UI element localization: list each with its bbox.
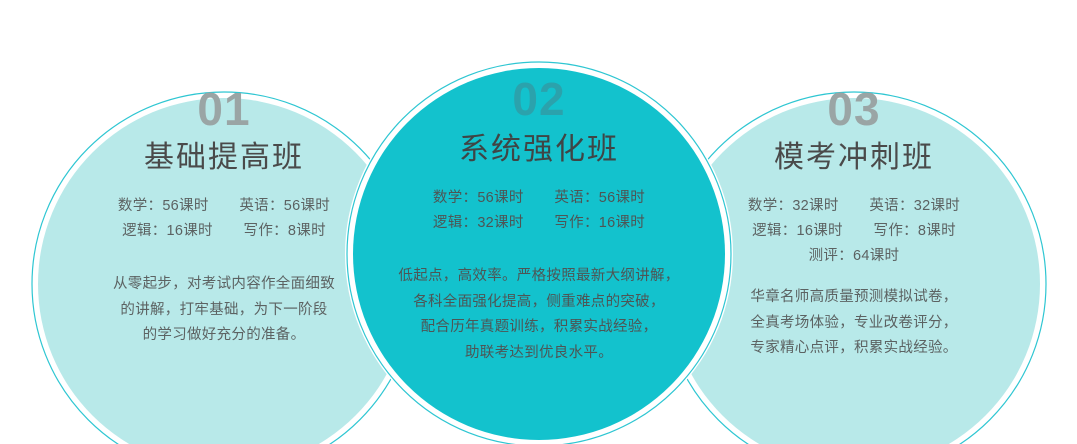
card-03-course-item: 英语：32课时 [869, 194, 960, 219]
card-03-course-row: 测评：64课时 [668, 244, 1040, 269]
description-line: 华章名师高质量预测模拟试卷， [668, 285, 1040, 311]
card-03-number: 03 [668, 86, 1040, 132]
card-02-course-item: 英语：56课时 [554, 186, 645, 211]
card-01-course-item: 英语：56课时 [239, 194, 330, 219]
card-03-title: 模考冲刺班 [668, 140, 1040, 176]
infographic-three-circles: 01 基础提高班 数学：56课时 英语：56课时 逻辑：16课时 写作：8课时 … [0, 0, 1077, 444]
card-03-course-item: 写作：8课时 [874, 219, 956, 244]
card-01-course-item: 逻辑：16课时 [122, 219, 213, 244]
card-03-course-item: 逻辑：16课时 [752, 219, 843, 244]
card-03: 03 模考冲刺班 数学：32课时 英语：32课时 逻辑：16课时 写作：8课时 … [668, 98, 1040, 362]
card-02-course-item: 数学：56课时 [433, 186, 524, 211]
card-03-course-row: 逻辑：16课时 写作：8课时 [668, 219, 1040, 244]
card-03-course-item: 测评：64课时 [809, 244, 900, 269]
card-03-course-list: 数学：32课时 英语：32课时 逻辑：16课时 写作：8课时 测评：64课时 [668, 194, 1040, 269]
card-01-course-item: 写作：8课时 [244, 219, 326, 244]
card-03-course-item: 数学：32课时 [748, 194, 839, 219]
card-03-description: 华章名师高质量预测模拟试卷， 全真考场体验，专业改卷评分， 专家精心点评，积累实… [668, 285, 1040, 362]
card-02-course-item: 写作：16课时 [554, 211, 645, 236]
description-line: 专家精心点评，积累实战经验。 [668, 336, 1040, 362]
card-03-course-row: 数学：32课时 英语：32课时 [668, 194, 1040, 219]
description-line: 全真考场体验，专业改卷评分， [668, 311, 1040, 337]
card-02-course-item: 逻辑：32课时 [433, 211, 524, 236]
card-01-course-item: 数学：56课时 [118, 194, 209, 219]
